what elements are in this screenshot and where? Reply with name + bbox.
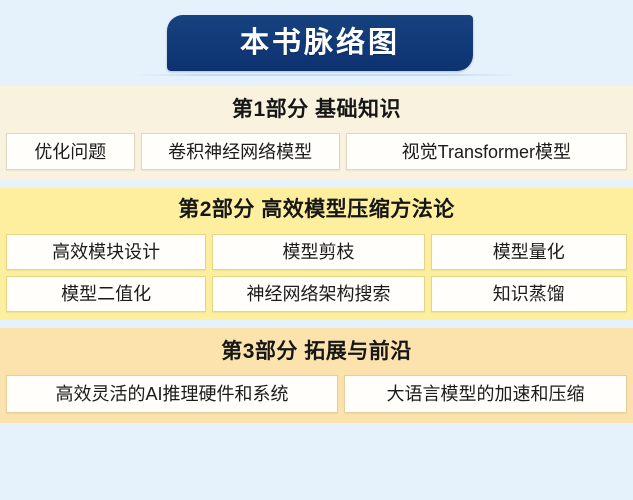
section-part-2: 第2部分 高效模型压缩方法论 高效模块设计 模型剪枝 模型量化 模型二值化 神经… [0,188,633,319]
section-title-part-3: 第3部分 拓展与前沿 [6,338,627,366]
banner-underline-divider [136,74,516,76]
topic-card[interactable]: 大语言模型的加速和压缩 [344,375,627,413]
page-title: 本书脉络图 [240,29,400,58]
card-row: 高效灵活的AI推理硬件和系统 大语言模型的加速和压缩 [6,375,627,413]
topic-card[interactable]: 模型剪枝 [212,234,424,270]
book-outline-infographic: 本书脉络图 第1部分 基础知识 优化问题 卷积神经网络模型 视觉Transfor… [0,0,633,500]
topic-card[interactable]: 卷积神经网络模型 [141,133,340,170]
section-title-part-2: 第2部分 高效模型压缩方法论 [6,196,627,224]
topic-card[interactable]: 高效灵活的AI推理硬件和系统 [6,375,338,413]
card-row: 模型二值化 神经网络架构搜索 知识蒸馏 [6,276,627,312]
topic-card[interactable]: 视觉Transformer模型 [346,133,627,170]
title-banner: 本书脉络图 [167,15,473,71]
section-title-part-1: 第1部分 基础知识 [6,96,627,124]
card-row: 优化问题 卷积神经网络模型 视觉Transformer模型 [6,133,627,170]
card-row: 高效模块设计 模型剪枝 模型量化 [6,234,627,270]
header-zone: 本书脉络图 [0,0,633,86]
topic-card[interactable]: 模型二值化 [6,276,206,312]
topic-card[interactable]: 模型量化 [431,234,627,270]
topic-card[interactable]: 高效模块设计 [6,234,206,270]
topic-card[interactable]: 知识蒸馏 [431,276,627,312]
section-divider [0,180,633,188]
section-part-1: 第1部分 基础知识 优化问题 卷积神经网络模型 视觉Transformer模型 [0,86,633,180]
topic-card[interactable]: 优化问题 [6,133,135,170]
section-part-3: 第3部分 拓展与前沿 高效灵活的AI推理硬件和系统 大语言模型的加速和压缩 [0,328,633,423]
section-divider [0,320,633,328]
topic-card[interactable]: 神经网络架构搜索 [212,276,424,312]
